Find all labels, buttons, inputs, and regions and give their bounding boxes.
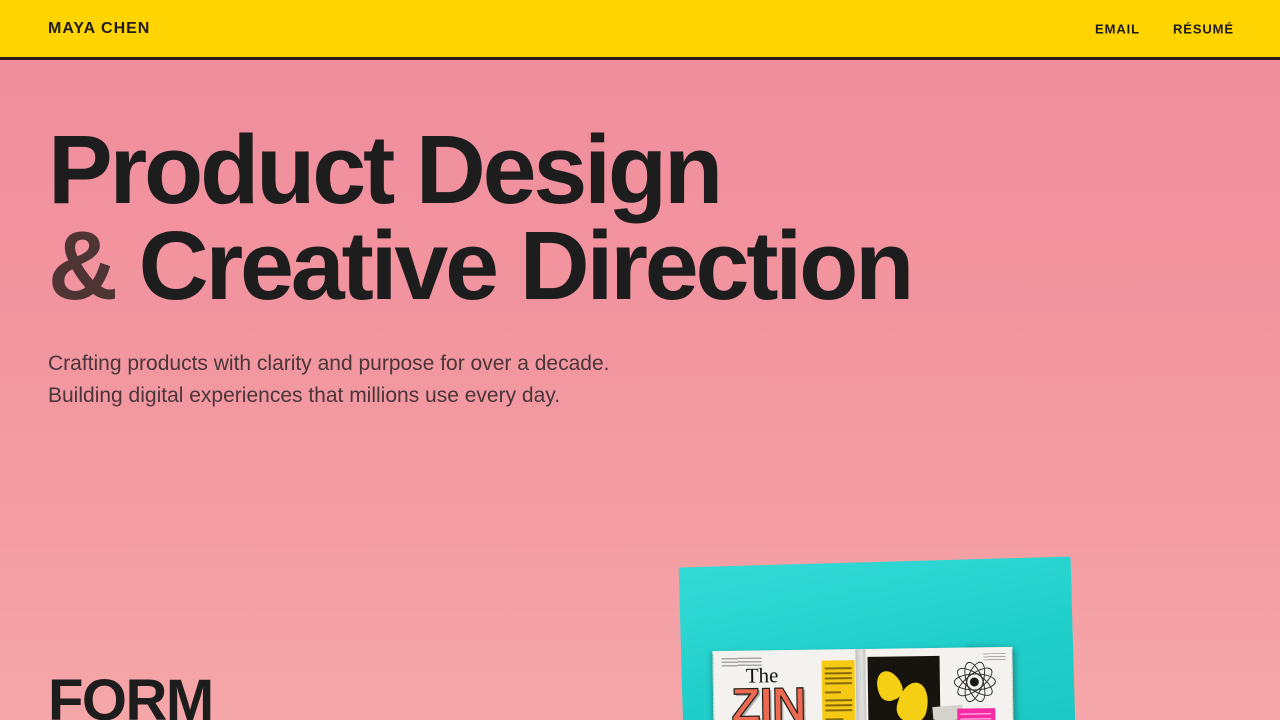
hero-subtitle: Crafting products with clarity and purpo…: [48, 348, 911, 412]
zine-title: ZIN: [731, 682, 806, 720]
open-magazine: The ZIN: [712, 647, 1013, 720]
section-heading-form: FORM: [48, 672, 213, 720]
portfolio-landing-page: MAYA CHEN EMAIL RÉSUMÉ Product Design & …: [0, 0, 1280, 720]
hero-section: Product Design & Creative Direction Craf…: [48, 60, 911, 412]
subtitle-line-1: Crafting products with clarity and purpo…: [48, 352, 609, 375]
page-title: Product Design & Creative Direction: [48, 122, 911, 314]
nav-link-email[interactable]: EMAIL: [1095, 21, 1140, 36]
brand-logo[interactable]: MAYA CHEN: [48, 20, 150, 38]
headline-line-1: Product Design: [48, 115, 720, 224]
magazine-spine: [855, 649, 866, 720]
pink-sticky-note: [957, 708, 995, 720]
primary-navigation: EMAIL RÉSUMÉ: [1095, 21, 1234, 36]
magazine-right-page: [860, 647, 1013, 720]
site-header: MAYA CHEN EMAIL RÉSUMÉ: [0, 0, 1280, 60]
magazine-left-page: The ZIN: [712, 649, 861, 720]
subtitle-line-2: Building digital experiences that millio…: [48, 384, 560, 407]
headline-line-2: Creative Direction: [115, 211, 911, 320]
zine-callout-box: [822, 660, 856, 720]
magazine-photo: The ZIN: [668, 552, 1088, 720]
nav-link-resume[interactable]: RÉSUMÉ: [1173, 21, 1234, 36]
atom-diagram-icon: [953, 660, 997, 704]
page-edge-left-icon: [712, 654, 714, 720]
headline-ampersand: &: [48, 211, 115, 320]
black-art-panel: [868, 656, 941, 720]
